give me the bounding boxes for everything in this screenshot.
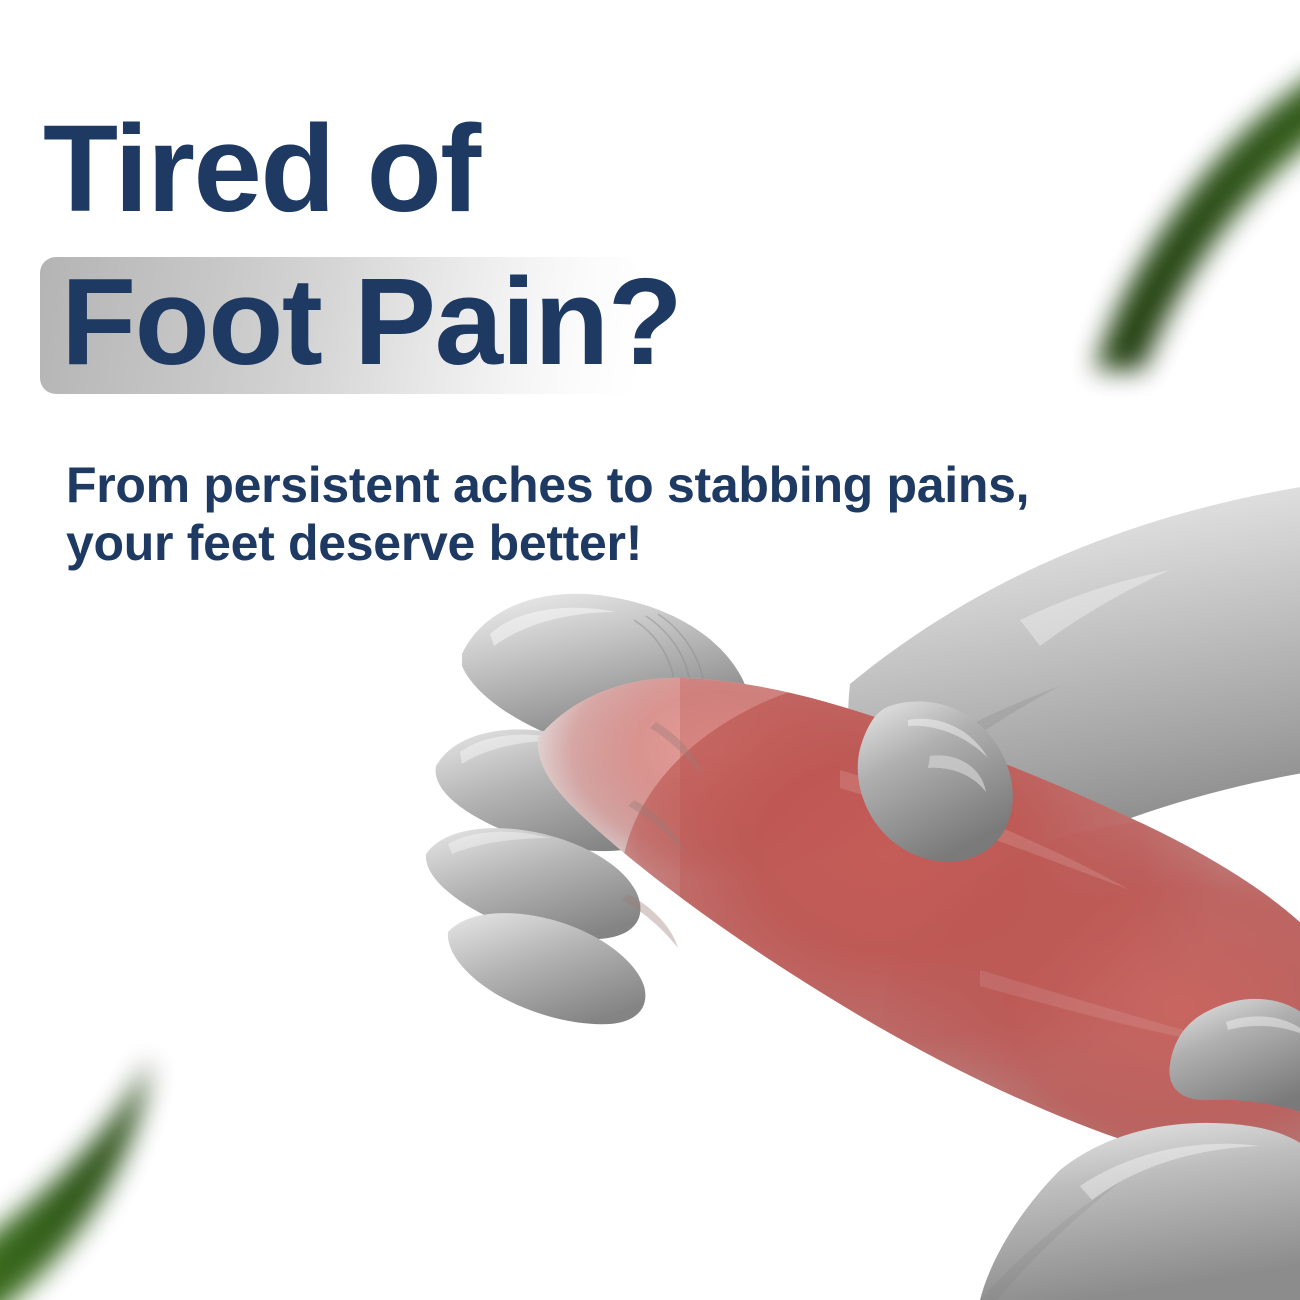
leaf-bottom-left-icon [0,985,250,1300]
leaf-top-right-icon [985,0,1300,370]
poster-canvas: Tired of Foot Pain? From persistent ache… [0,0,1300,1300]
page-title-line1: Tired of [40,108,700,231]
headline-block: Tired of Foot Pain? [40,108,700,394]
headline-highlight-wrap: Foot Pain? [40,257,637,394]
page-title-line2: Foot Pain? [61,261,681,384]
foot-pain-photo [420,470,1300,1300]
